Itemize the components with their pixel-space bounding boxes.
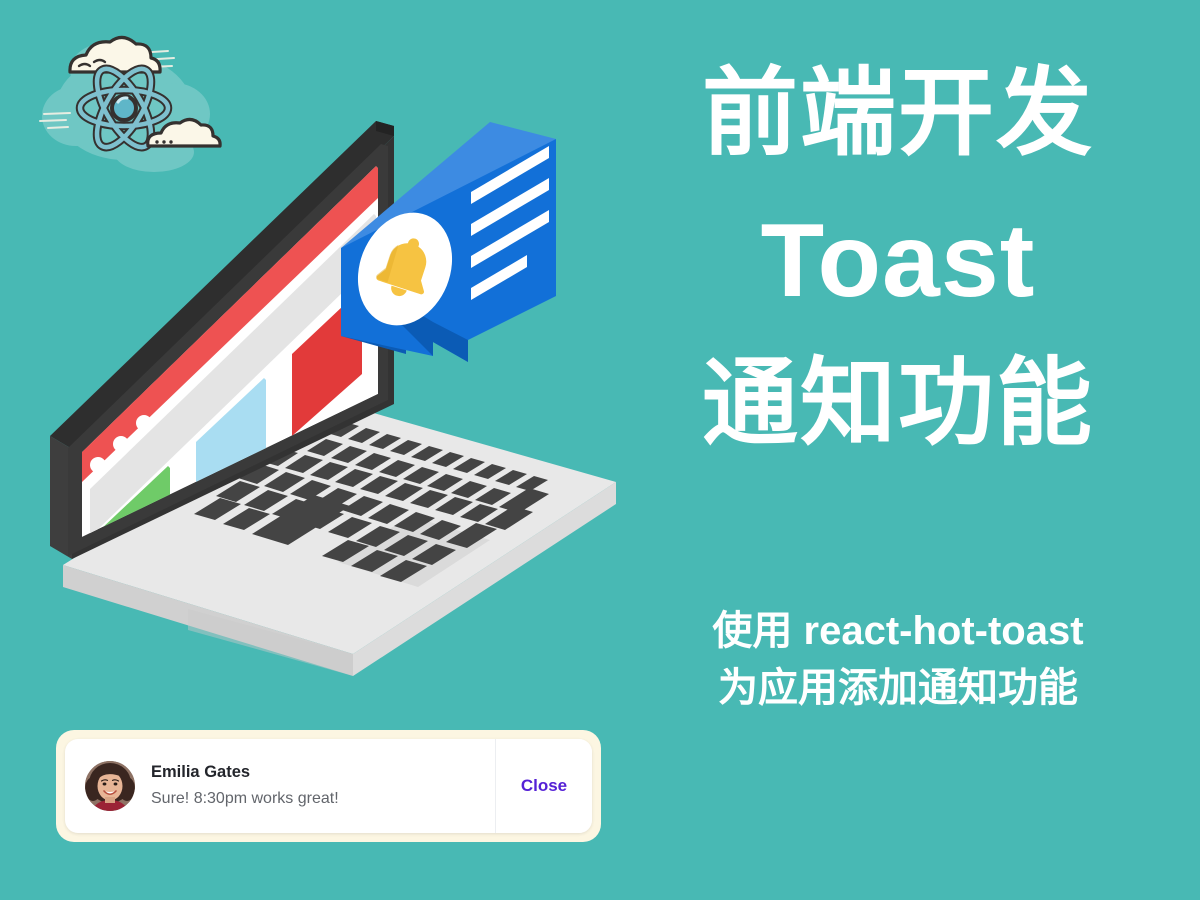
subtitle-block: 使用 react-hot-toast 为应用添加通知功能 (628, 603, 1168, 717)
subtitle-line-2: 为应用添加通知功能 (628, 660, 1168, 717)
toast-message: Sure! 8:30pm works great! (151, 787, 339, 811)
subtitle-line-1: 使用 react-hot-toast (628, 603, 1168, 660)
poster-canvas: 前端开发 Toast 通知功能 使用 react-hot-toast 为应用添加… (0, 0, 1200, 900)
toast-card: Emilia Gates Sure! 8:30pm works great! C… (65, 739, 592, 833)
avatar-photo (85, 761, 135, 811)
laptop-illustration-svg (38, 100, 638, 740)
toast-content: Emilia Gates Sure! 8:30pm works great! (65, 761, 495, 811)
isometric-laptop-illustration (38, 100, 638, 740)
headline-line-1: 前端开发 (628, 62, 1168, 166)
headline-line-3: 通知功能 (628, 352, 1168, 456)
toast-notification: Emilia Gates Sure! 8:30pm works great! C… (56, 730, 601, 842)
headline-line-2: Toast (628, 204, 1168, 318)
headline-block: 前端开发 Toast 通知功能 (628, 62, 1168, 456)
avatar (85, 761, 135, 811)
close-button[interactable]: Close (495, 739, 592, 833)
toast-sender-name: Emilia Gates (151, 761, 339, 785)
toast-text-group: Emilia Gates Sure! 8:30pm works great! (151, 761, 339, 811)
